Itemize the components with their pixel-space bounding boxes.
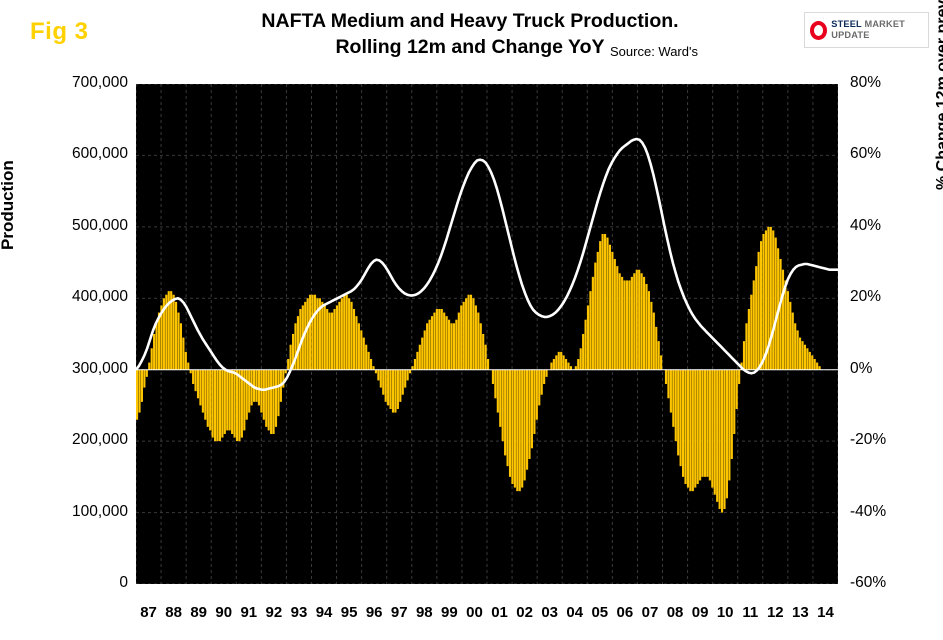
x-axis-tick: 08 bbox=[662, 604, 688, 621]
chart-svg bbox=[136, 84, 838, 584]
x-axis-tick: 01 bbox=[487, 604, 513, 621]
y-axis-right-tick: -20% bbox=[850, 431, 886, 449]
x-axis-tick: 14 bbox=[812, 604, 838, 621]
y-axis-left-tick: 300,000 bbox=[18, 360, 128, 378]
x-axis-tick: 98 bbox=[411, 604, 437, 621]
y-axis-left-title: Production bbox=[0, 160, 18, 250]
chart-page: Fig 3 NAFTA Medium and Heavy Truck Produ… bbox=[0, 0, 943, 640]
x-axis-tick: 10 bbox=[712, 604, 738, 621]
y-axis-left-tick: 200,000 bbox=[18, 431, 128, 449]
x-axis-tick: 06 bbox=[612, 604, 638, 621]
y-axis-right-tick: 0% bbox=[850, 360, 872, 378]
x-axis-tick: 12 bbox=[762, 604, 788, 621]
y-axis-left-tick: 0 bbox=[18, 574, 128, 592]
x-axis-tick: 07 bbox=[637, 604, 663, 621]
y-axis-right-tick: 60% bbox=[850, 145, 881, 163]
steel-market-update-logo: STEEL MARKET UPDATE bbox=[804, 12, 929, 48]
x-axis-tick: 94 bbox=[311, 604, 337, 621]
x-axis-tick: 89 bbox=[186, 604, 212, 621]
chart-title-line2: Rolling 12m and Change YoY bbox=[335, 34, 604, 60]
x-axis-tick: 09 bbox=[687, 604, 713, 621]
y-axis-right-tick: -60% bbox=[850, 574, 886, 592]
y-axis-right-tick: 40% bbox=[850, 217, 881, 235]
gridlines bbox=[136, 84, 838, 584]
x-axis-tick: 99 bbox=[436, 604, 462, 621]
y-axis-left-tick: 500,000 bbox=[18, 217, 128, 235]
x-axis-tick: 13 bbox=[787, 604, 813, 621]
logo-word-1: STEEL bbox=[831, 19, 861, 29]
x-axis-tick: 11 bbox=[737, 604, 763, 621]
x-axis-tick: 97 bbox=[386, 604, 412, 621]
x-axis-tick: 88 bbox=[161, 604, 187, 621]
y-axis-right-tick: 20% bbox=[850, 288, 881, 306]
y-axis-left-tick: 400,000 bbox=[18, 288, 128, 306]
x-axis-tick: 87 bbox=[136, 604, 162, 621]
x-axis-tick: 05 bbox=[587, 604, 613, 621]
x-axis-tick: 00 bbox=[461, 604, 487, 621]
x-axis-tick: 91 bbox=[236, 604, 262, 621]
x-axis-tick: 92 bbox=[261, 604, 287, 621]
x-axis-tick: 93 bbox=[286, 604, 312, 621]
y-axis-left-tick: 700,000 bbox=[18, 74, 128, 92]
logo-text: STEEL MARKET UPDATE bbox=[831, 19, 928, 41]
y-axis-right-tick: 80% bbox=[850, 74, 881, 92]
x-axis-tick: 95 bbox=[336, 604, 362, 621]
y-axis-left-tick: 600,000 bbox=[18, 145, 128, 163]
y-axis-right-tick: -40% bbox=[850, 503, 886, 521]
y-axis-right-title: % Change 12m over previous 12m bbox=[934, 0, 943, 190]
x-axis-tick: 96 bbox=[361, 604, 387, 621]
chart-source: Source: Ward's bbox=[610, 44, 698, 59]
chart-title-line1: NAFTA Medium and Heavy Truck Production. bbox=[261, 10, 678, 32]
red-ring-icon bbox=[810, 21, 827, 40]
x-axis-tick: 03 bbox=[537, 604, 563, 621]
plot-area: Growth Rolling 12 M Y on Y NAFTA Total M… bbox=[136, 84, 838, 584]
x-axis-tick: 02 bbox=[512, 604, 538, 621]
x-axis-tick: 90 bbox=[211, 604, 237, 621]
y-axis-left-tick: 100,000 bbox=[18, 503, 128, 521]
figure-label: Fig 3 bbox=[30, 18, 89, 46]
x-axis-tick: 04 bbox=[562, 604, 588, 621]
